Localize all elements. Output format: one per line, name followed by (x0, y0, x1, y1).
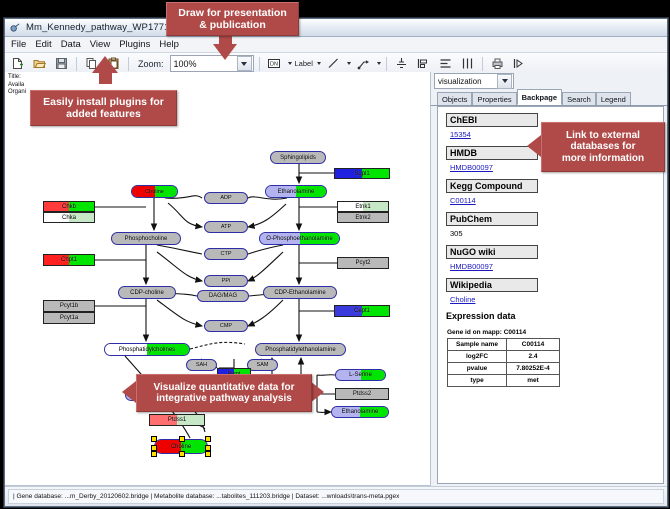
callout-draw: Draw for presentation & publication (166, 2, 299, 36)
node-label: Phosphocholine (125, 236, 168, 242)
callout-plugins-line2: added features (66, 108, 141, 120)
status-text: | Gene database: ...m_Derby_20120602.bri… (8, 489, 664, 504)
metabolite-node-phosphocholine[interactable]: Phosphocholine (111, 232, 181, 245)
callout-visualize-arrow-left (122, 381, 136, 403)
metabolite-node-atp[interactable]: ATP (204, 221, 248, 233)
menu-bar: File Edit Data View Plugins Help (5, 37, 667, 53)
line-icon[interactable] (324, 54, 343, 73)
callout-plugins-line1: Easily install plugins for (43, 96, 164, 108)
node-label: Chka (62, 215, 76, 221)
callout-draw-arrow (213, 44, 237, 60)
db-header-pubchem: PubChem (446, 212, 538, 226)
selection-handle[interactable] (151, 445, 157, 451)
db-header-wikipedia: Wikipedia (446, 278, 538, 292)
metabolite-node-ethanolamine-right[interactable]: Ethanolamine (331, 406, 389, 418)
table-row: log2FC 2.4 (448, 351, 560, 363)
node-label: CDP-choline (130, 290, 164, 296)
node-label: Pcyt1a (60, 315, 78, 321)
callout-visualize-arrow-right (310, 381, 324, 403)
node-label: Chkb (62, 204, 76, 210)
selection-handle[interactable] (205, 445, 211, 451)
callout-link: Link to external databases for more info… (541, 122, 665, 172)
pathvisio-window: Mm_Kennedy_pathway_WP1771_45176.gpml Fil… (4, 18, 668, 507)
tab-objects[interactable]: Objects (437, 92, 472, 105)
toolbar-separator-1 (76, 57, 77, 71)
visualization-row: visualization (431, 72, 667, 90)
db-link-kegg[interactable]: C00114 (450, 196, 663, 205)
gene-node-sgpl1[interactable]: Sgpl1 (334, 168, 390, 179)
label-button[interactable]: Label (295, 59, 313, 68)
selection-handle[interactable] (151, 451, 157, 457)
line-chevron-icon[interactable] (347, 62, 351, 65)
expr-value-type: met (507, 375, 560, 387)
gene-node-pcyt1b[interactable]: Pcyt1b (43, 300, 95, 312)
metabolite-node-dag-mag[interactable]: DAG/MAG (197, 290, 249, 302)
metabolite-node-sphingolipids[interactable]: Sphingolipids (270, 151, 326, 164)
gene-node-cept1[interactable]: Cept1 (334, 305, 390, 317)
expr-label-sample: Sample name (448, 339, 507, 351)
menu-item-help[interactable]: Help (159, 39, 179, 50)
zoom-value: 100% (174, 59, 197, 69)
datanode-chevron-icon[interactable] (288, 62, 292, 65)
expr-label-type: type (448, 375, 507, 387)
selection-handle[interactable] (205, 436, 211, 442)
app-icon (10, 22, 21, 33)
node-label: Sgpl1 (354, 171, 369, 177)
tab-search[interactable]: Search (562, 92, 596, 105)
expression-data-heading: Expression data (446, 311, 663, 321)
toolbar-separator-5 (482, 57, 483, 71)
db-header-chebi: ChEBI (446, 113, 538, 127)
open-folder-icon[interactable] (30, 54, 49, 73)
visualization-value: visualization (438, 77, 482, 86)
node-label: ADP (220, 195, 231, 201)
callout-draw-line1: Draw for presentation (178, 7, 287, 19)
metabolite-node-cdp-ethanolamine[interactable]: CDP-Ethanolamine (263, 286, 337, 299)
metabolite-node-o-phosphoethanolamine[interactable]: O-Phosphoethanolamine (259, 232, 340, 245)
chevron-down-icon[interactable] (497, 74, 512, 89)
node-label: Ethanolamine (278, 189, 315, 195)
visualization-select[interactable]: visualization (434, 73, 514, 89)
align-top-icon[interactable] (392, 54, 411, 73)
callout-link-line3: more information (562, 153, 644, 165)
node-label: Choline (171, 444, 191, 450)
expr-value-sample: C00114 (507, 339, 560, 351)
node-label: Ptdss2 (353, 391, 371, 397)
node-label: Chpt1 (61, 257, 77, 263)
node-label: CMP (220, 323, 232, 329)
tab-backpage[interactable]: Backpage (517, 89, 562, 105)
callout-link-arrow (527, 135, 541, 157)
screenshot-root: Mm_Kennedy_pathway_WP1771_45176.gpml Fil… (0, 0, 670, 509)
tab-properties[interactable]: Properties (472, 92, 516, 105)
side-tabs: Objects Properties Backpage Search Legen… (431, 90, 667, 106)
pathway-canvas[interactable]: Title: Availa Organi (5, 72, 431, 486)
callout-visualize-line1: Visualize quantitative data for (154, 382, 295, 394)
metabolite-node-adp[interactable]: ADP (204, 192, 248, 204)
metabolite-node-sah[interactable]: SAH (186, 359, 217, 371)
node-label: Pcyt1b (60, 303, 78, 309)
node-label: L-Serine (349, 372, 372, 378)
node-label: Etnk1 (355, 204, 370, 210)
node-label: ATP (221, 224, 231, 230)
chevron-down-icon[interactable] (237, 56, 252, 71)
node-label: PPi (222, 278, 231, 284)
db-value-pubchem: 305 (450, 229, 663, 238)
align-left-icon[interactable] (414, 54, 433, 73)
node-label: O-Phosphoethanolamine (266, 236, 332, 242)
gene-node-pcyt1a[interactable]: Pcyt1a (43, 312, 95, 324)
distribute-vertical-icon[interactable] (436, 54, 455, 73)
gene-node-chka[interactable]: Chka (43, 212, 95, 223)
node-label: Phosphatidylethanolamine (265, 347, 335, 353)
selection-handle[interactable] (179, 451, 185, 457)
node-label: Ethanolamine (342, 409, 379, 415)
menu-item-plugins[interactable]: Plugins (119, 39, 150, 50)
node-label: Sphingolipids (280, 155, 316, 161)
zoom-combo[interactable]: 100% (170, 55, 254, 72)
toolbar-separator-3 (259, 57, 260, 71)
db-header-hmdb: HMDB (446, 146, 538, 160)
svg-text:DN: DN (270, 62, 278, 68)
node-label: Choline (145, 189, 164, 195)
undo-icon[interactable] (510, 54, 529, 73)
selection-handle[interactable] (151, 436, 157, 442)
node-label: CDP-Ethanolamine (274, 290, 325, 296)
metabolite-node-ctp[interactable]: CTP (204, 248, 248, 260)
label-chevron-icon[interactable] (317, 62, 321, 65)
node-label: Cept1 (354, 308, 370, 314)
interaction-icon[interactable] (354, 54, 373, 73)
title-bar: Mm_Kennedy_pathway_WP1771_45176.gpml (5, 19, 667, 37)
expr-value-log2fc: 2.4 (507, 351, 560, 363)
gene-node-chkb[interactable]: Chkb (43, 201, 95, 212)
node-label: SAH (196, 362, 207, 368)
node-label: CTP (221, 251, 232, 257)
zoom-label: Zoom: (138, 59, 164, 69)
db-header-nugo: NuGO wiki (446, 245, 538, 259)
table-row: Sample name C00114 (448, 339, 560, 351)
callout-visualize-line2: integrative pathway analysis (156, 393, 292, 405)
gene-id-on-mapp: Gene id on mapp: C00114 (447, 329, 663, 336)
callout-plugins: Easily install plugins for added feature… (30, 90, 177, 126)
metabolite-node-ppi[interactable]: PPi (204, 275, 248, 287)
toolbar-separator-2 (128, 57, 129, 71)
menu-item-data[interactable]: Data (61, 39, 81, 50)
node-label: SAM (257, 362, 269, 368)
node-label: Ptdss1 (168, 417, 186, 423)
metabolite-node-choline-top[interactable]: Choline (131, 185, 178, 198)
gene-node-etnk1[interactable]: Etnk1 (337, 201, 389, 212)
canvas-info-available: Availa (8, 82, 26, 90)
node-label: DAG/MAG (209, 293, 237, 299)
expr-label-pvalue: pvalue (448, 363, 507, 375)
callout-plugins-arrow (92, 56, 118, 73)
canvas-info-organism: Organi (8, 89, 26, 97)
metabolite-node-l-serine-right[interactable]: L-Serine (335, 369, 386, 381)
tab-legend[interactable]: Legend (596, 92, 631, 105)
metabolite-node-cmp[interactable]: CMP (204, 320, 248, 332)
callout-link-line1: Link to external (566, 130, 640, 142)
callout-visualize: Visualize quantitative data for integrat… (136, 374, 312, 412)
expr-label-log2fc: log2FC (448, 351, 507, 363)
canvas-info-header: Title: Availa Organi (8, 74, 26, 97)
metabolite-node-phosphatidylcholines[interactable]: Phosphatidylcholines (104, 343, 190, 356)
gene-node-etnk2[interactable]: Etnk2 (337, 212, 389, 223)
gene-node-chpt1[interactable]: Chpt1 (43, 254, 95, 266)
metabolite-node-sam[interactable]: SAM (247, 359, 278, 371)
node-label: Phosphatidylcholines (119, 347, 175, 353)
datanode-icon[interactable]: DN (265, 54, 284, 73)
table-row: type met (448, 375, 560, 387)
menu-item-edit[interactable]: Edit (35, 39, 51, 50)
callout-link-line2: databases for (570, 141, 635, 153)
print-icon[interactable] (488, 54, 507, 73)
node-label: Pcyt2 (355, 260, 370, 266)
toolbar-separator-4 (386, 57, 387, 71)
table-row: pvalue 7.80252E-4 (448, 363, 560, 375)
gene-node-ptdss1[interactable]: Ptdss1 (149, 414, 205, 426)
db-link-nugo[interactable]: HMDB00097 (450, 262, 663, 271)
selection-handle[interactable] (205, 451, 211, 457)
callout-draw-line2: & publication (199, 19, 266, 31)
expr-value-pvalue: 7.80252E-4 (507, 363, 560, 375)
selection-handle[interactable] (179, 436, 185, 442)
callout-plugins-stem (99, 72, 112, 84)
new-file-icon[interactable] (8, 54, 27, 73)
menu-item-view[interactable]: View (90, 39, 110, 50)
metabolite-node-phosphatidylethanolamine[interactable]: Phosphatidylethanolamine (255, 343, 346, 356)
interaction-chevron-icon[interactable] (377, 62, 381, 65)
gene-node-ptdss2[interactable]: Ptdss2 (335, 388, 389, 400)
metabolite-node-ethanolamine-top[interactable]: Ethanolamine (265, 185, 327, 198)
metabolite-node-cdp-choline[interactable]: CDP-choline (118, 286, 176, 299)
db-header-kegg: Kegg Compound (446, 179, 538, 193)
canvas-info-title: Title: (8, 74, 26, 82)
status-bar: | Gene database: ...m_Derby_20120602.bri… (5, 486, 667, 506)
menu-item-file[interactable]: File (11, 39, 26, 50)
expression-table: Sample name C00114 log2FC 2.4 pvalue 7.8… (447, 338, 560, 387)
gene-node-pcyt2[interactable]: Pcyt2 (337, 257, 389, 269)
db-link-wikipedia[interactable]: Choline (450, 295, 663, 304)
save-icon[interactable] (52, 54, 71, 73)
node-label: Etnk2 (355, 215, 370, 221)
distribute-horizontal-icon[interactable] (458, 54, 477, 73)
